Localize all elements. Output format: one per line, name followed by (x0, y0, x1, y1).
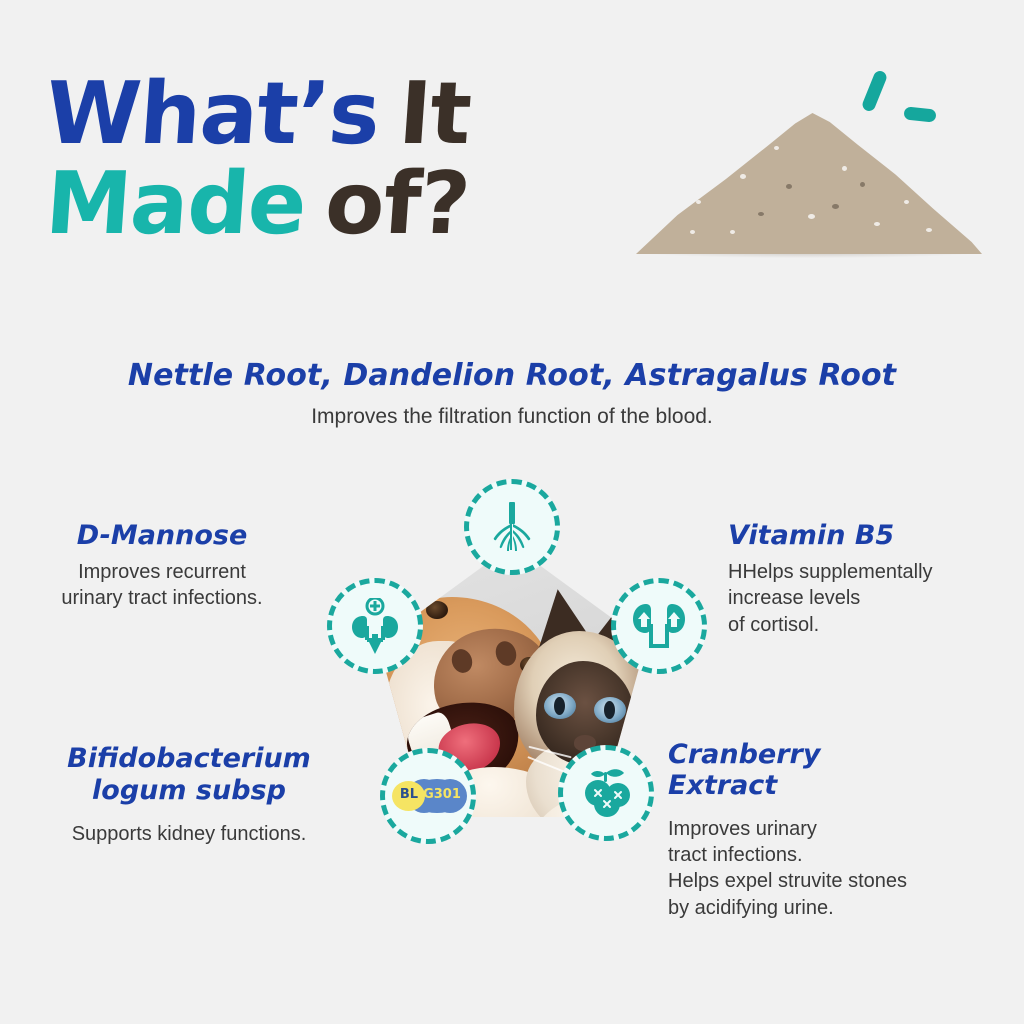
ingredient-d-mannose: D-Mannose Improves recurrent urinary tra… (12, 520, 312, 612)
subhead-title: Nettle Root, Dandelion Root, Astragalus … (0, 358, 1024, 393)
title-it: It (396, 64, 474, 164)
page-title: What’sIt Madeof? (46, 72, 646, 247)
probiotic-badge-icon: BL G301 (380, 748, 476, 844)
ingredient-title: D-Mannose (12, 520, 312, 552)
powder-image (628, 62, 1000, 258)
plant-root-icon (464, 479, 560, 575)
title-line-1: What’sIt (43, 72, 649, 156)
ingredient-description: Supports kidney functions. (14, 821, 364, 847)
kidney-up-arrow-glyph (631, 602, 687, 650)
title-line-2: Madeof? (43, 162, 649, 246)
kidney-plus-icon (327, 578, 423, 674)
ingredient-title: Cranberry Extract (668, 740, 1008, 802)
infographic-canvas: What’sIt Madeof? Nettle Root, Da (0, 0, 1024, 1024)
powder-mound (636, 104, 982, 254)
cranberry-berries-icon (558, 745, 654, 841)
ingredient-title: Bifidobacterium logum subsp (14, 743, 364, 807)
ingredient-cranberry-extract: Cranberry Extract Improves urinary tract… (668, 740, 1008, 921)
ingredient-description: Improves recurrent urinary tract infecti… (12, 559, 312, 612)
badge-right-text: G301 (420, 787, 464, 802)
ingredient-bifidobacterium: Bifidobacterium logum subsp Supports kid… (14, 743, 364, 847)
subhead-description: Improves the filtration function of the … (0, 405, 1024, 429)
title-whats: What’s (43, 64, 383, 164)
bl-g301-badge: BL G301 (392, 778, 464, 814)
subhead-block: Nettle Root, Dandelion Root, Astragalus … (0, 358, 1024, 429)
title-made: Made (43, 154, 310, 254)
plant-root-glyph (489, 502, 535, 552)
kidney-up-arrow-icon (611, 578, 707, 674)
ingredient-description: Improves urinary tract infections. Helps… (668, 816, 1008, 922)
accent-dash-icon (903, 106, 936, 122)
accent-dash-icon (861, 69, 889, 113)
ingredient-vitamin-b5: Vitamin B5 HHelps supplementally increas… (728, 520, 1018, 638)
kidney-plus-glyph (349, 598, 401, 654)
title-of: of? (322, 154, 472, 254)
ingredient-title: Vitamin B5 (728, 520, 1018, 552)
ingredient-description: HHelps supplementally increase levels of… (728, 559, 1018, 638)
cranberry-glyph (578, 767, 634, 819)
